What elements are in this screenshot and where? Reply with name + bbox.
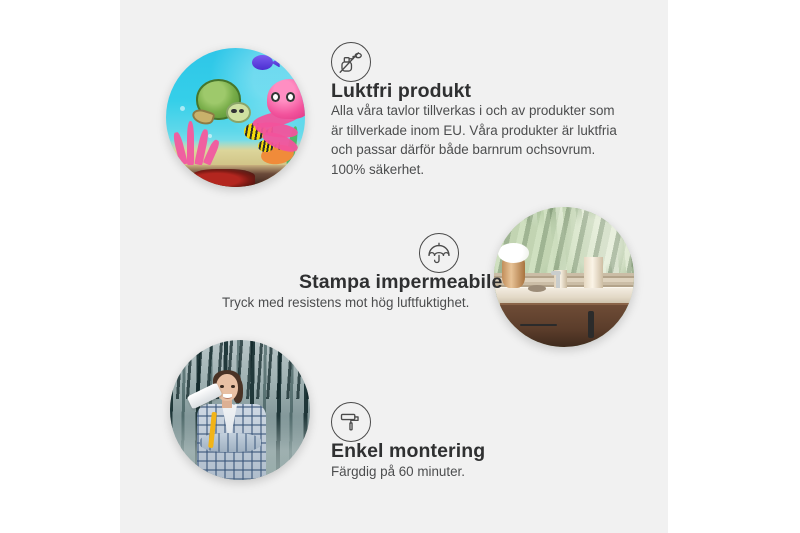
feature-title-odorless: Luktfri produkt <box>331 80 471 103</box>
feature-image-easy-install <box>170 340 310 480</box>
octopus <box>252 79 305 151</box>
turtle <box>191 76 252 126</box>
no-odor-spray-icon <box>331 42 371 82</box>
bathroom-scene-art <box>494 207 634 347</box>
faucet <box>556 271 560 288</box>
promo-infographic: Luktfri produkt Alla våra tavlor tillver… <box>0 0 800 533</box>
feature-title-easy-install: Enkel montering <box>331 440 485 463</box>
umbrella-icon <box>419 233 459 273</box>
woman-with-roller <box>192 374 270 480</box>
feature-title-waterproof: Stampa impermeabile <box>299 271 502 294</box>
forest-scene-art <box>170 340 310 480</box>
feature-body-odorless: Alla våra tavlor tillverkas i och av pro… <box>331 101 619 179</box>
white-flowers <box>498 243 529 263</box>
feature-body-waterproof: Tryck med resistens mot hög luftfuktighe… <box>222 293 542 313</box>
feature-body-easy-install: Färgdig på 60 minuter. <box>331 462 621 482</box>
feature-image-odorless <box>166 48 305 187</box>
decor-box-large <box>584 257 604 288</box>
sea-floor-shelf <box>166 165 305 187</box>
paint-roller-icon <box>331 402 371 442</box>
feature-image-waterproof <box>494 207 634 347</box>
underwater-scene-art <box>166 48 305 187</box>
